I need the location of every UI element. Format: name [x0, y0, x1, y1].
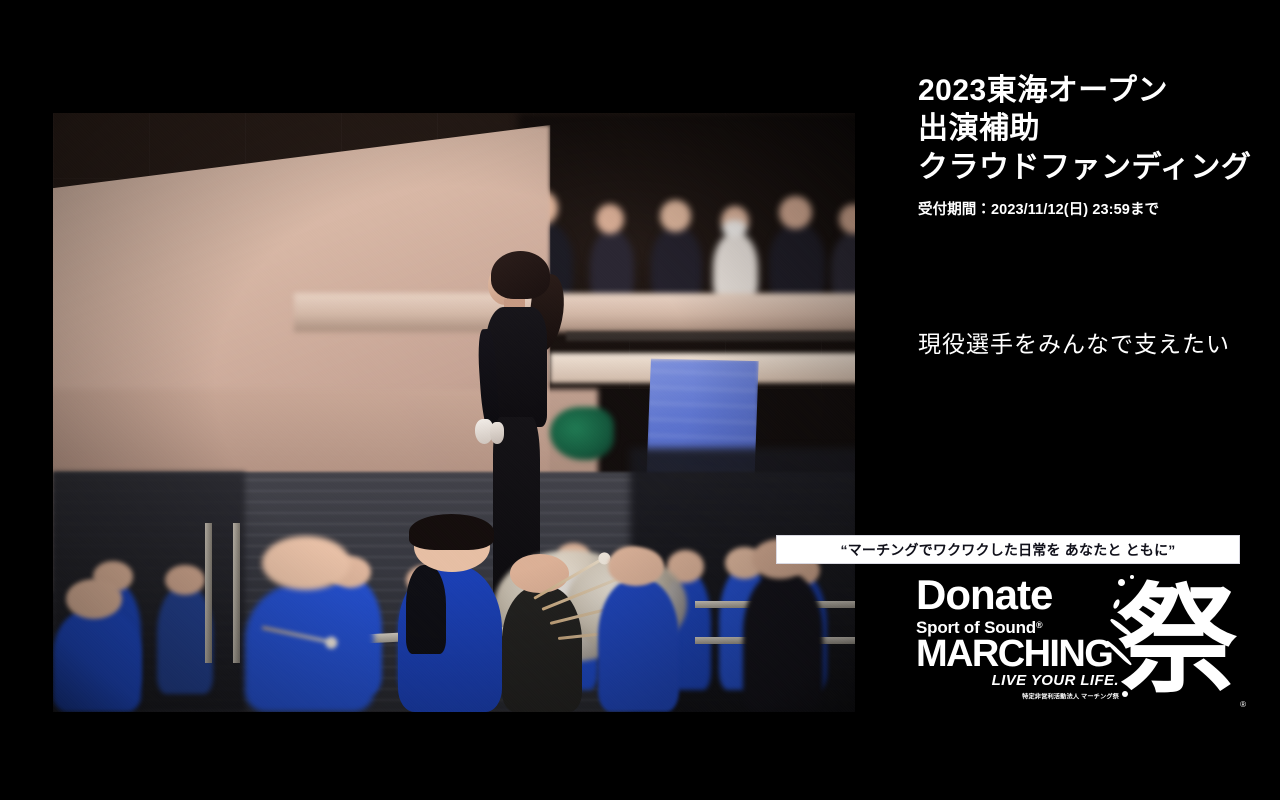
- quote-banner: “マーチングでワクワクした日常を あなたと ともに”: [776, 535, 1240, 564]
- promo-stage: 2023東海オープン 出演補助 クラウドファンディング 受付期間：2023/11…: [0, 0, 1280, 800]
- logo-organization: 特定非営利活動法人 マーチング祭: [924, 691, 1119, 701]
- ink-splatter: [1122, 691, 1128, 697]
- title-line-2: 出演補助: [918, 110, 1268, 148]
- logo-donate: Donate: [916, 575, 1131, 615]
- event-photo: [53, 113, 855, 712]
- ink-splatter: [1130, 575, 1134, 579]
- brand-logo: Donate Sport of Sound® MARCHING LIVE YOU…: [916, 575, 1246, 715]
- deadline-text: 受付期間：2023/11/12(日) 23:59まで: [918, 198, 1159, 219]
- brand-logo-text: Donate Sport of Sound® MARCHING LIVE YOU…: [916, 575, 1131, 701]
- matsuri-kanji-glyph: 祭: [1112, 567, 1242, 713]
- registered-mark-icon: ®: [1036, 620, 1042, 630]
- registered-mark-icon: ®: [1240, 700, 1246, 709]
- subheading-text: 現役選手をみんなで支えたい: [918, 325, 1268, 359]
- photo-grain: [53, 113, 855, 712]
- matsuri-kanji-mark: 祭 ®: [1112, 573, 1242, 711]
- ink-splatter: [1118, 579, 1125, 586]
- title-line-1: 2023東海オープン: [918, 72, 1268, 110]
- title-line-3: クラウドファンディング: [918, 149, 1268, 187]
- page-title: 2023東海オープン 出演補助 クラウドファンディング: [918, 72, 1268, 187]
- logo-marching: MARCHING: [916, 637, 1131, 672]
